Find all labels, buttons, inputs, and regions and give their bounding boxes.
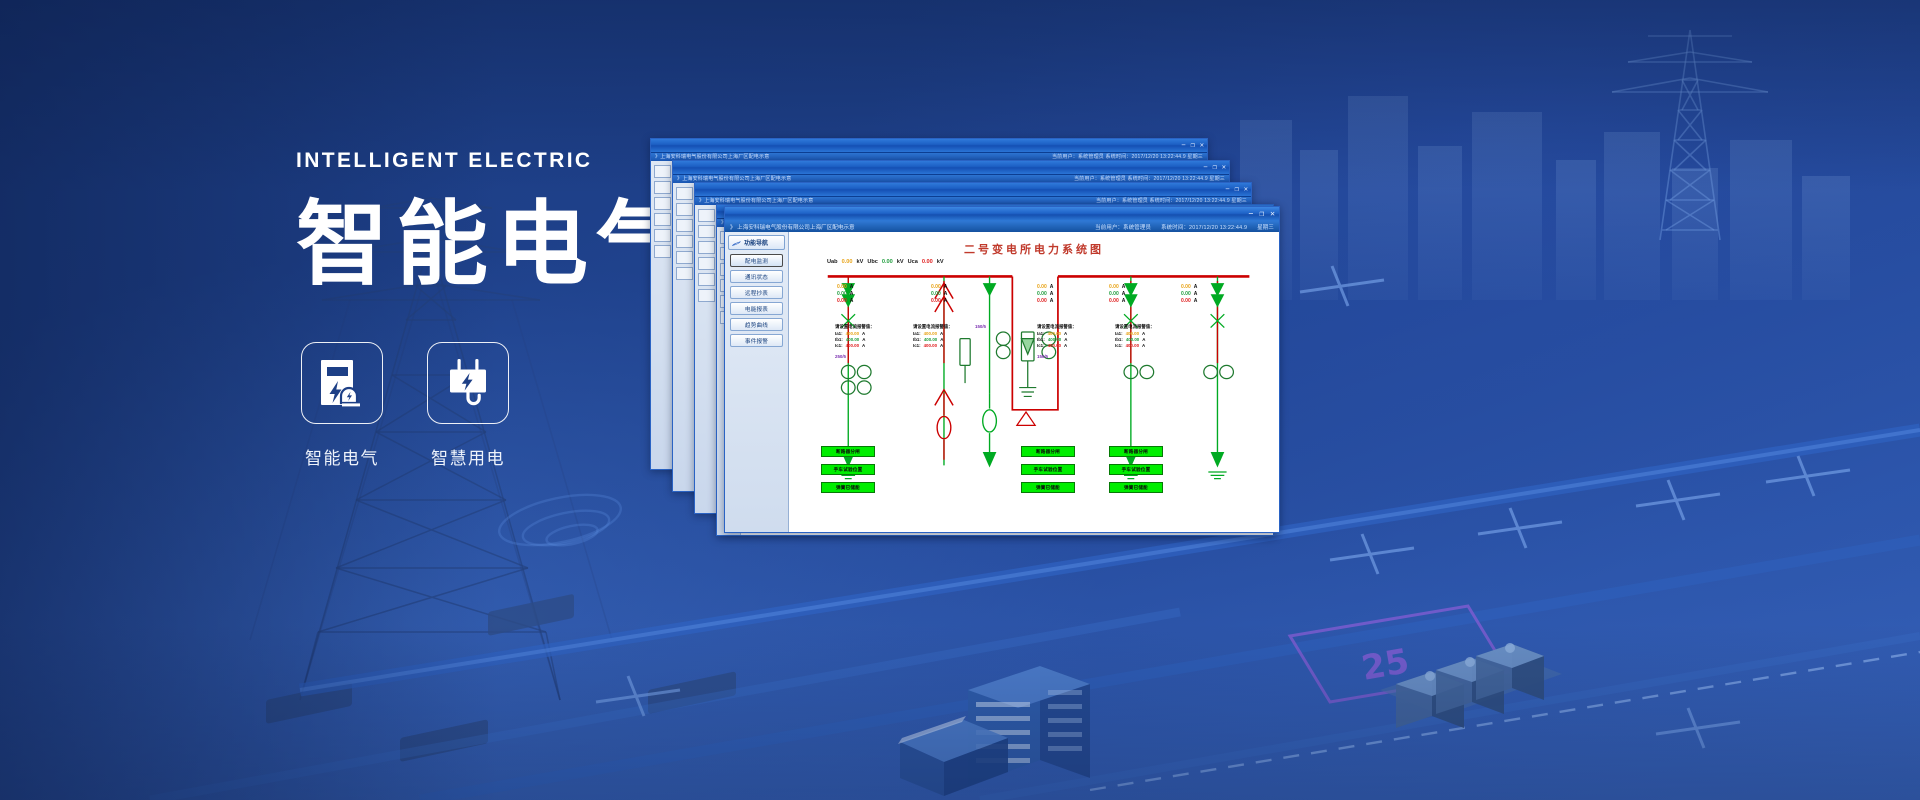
phase-a-current: 0.00 [1181,284,1191,291]
ic1-label: Ic1: [1115,343,1123,349]
nav-item-label: 通讯状态 [745,273,768,281]
power-plug-lightning-icon [444,358,492,408]
status-column-3: 断路器分闸 手车试验位置 弹簧已储能 [1109,446,1163,493]
foreground-window-substation[interactable]: − ❐ ✕ 》 上海安科瑞电气股份有限公司上海厂区配电示意 当前用户：系统管理员… [724,206,1280,533]
breadcrumb: 》 上海安科瑞电气股份有限公司上海厂区配电示意 [730,223,855,231]
nav-item-label: 电能报表 [745,305,768,313]
nav-rail-item[interactable] [676,187,693,200]
window-titlebar[interactable]: − ❐ ✕ [725,207,1279,221]
unit: A [1050,291,1054,298]
nav-rail-item[interactable] [676,267,693,280]
weekday-label: 星期三 [1257,223,1274,231]
alarm-setting-block-3: 请设置电流报警值： Ia1:400.00A Ib1:400.00A Ic1:40… [1037,324,1077,349]
phase-a-current: 0.00 [837,284,847,291]
tower-footings [266,594,736,762]
status-spring-charged[interactable]: 弹簧已储能 [821,482,875,493]
status-truck-test-pos[interactable]: 手车试验位置 [1109,464,1163,475]
status-spring-charged[interactable]: 弹簧已储能 [1109,482,1163,493]
svg-text:25: 25 [1359,641,1413,689]
maximize-button[interactable]: ❐ [1191,142,1195,149]
feature-item-smart-power[interactable]: 智慧用电 [426,342,510,469]
building-cluster [898,666,1090,796]
nav-rail-item[interactable] [654,245,671,258]
status-column-1: 断路器分闸 手车试验位置 弹簧已储能 [821,446,875,493]
feature-icon-frame [301,342,383,424]
unit: A [944,298,948,305]
nav-item-power-monitoring[interactable]: 配电监测 [730,254,783,267]
ic1-label: Ic1: [835,343,843,349]
transmission-tower-right [1612,30,1768,240]
alarm-setting-header: 请设置电流报警值： [913,324,953,330]
ic1-value: 400.00 [924,343,937,349]
close-button[interactable]: ✕ [1244,186,1248,193]
current-readout-feeder-1: 0.00A 0.00A 0.00A [837,284,853,305]
current-readout-feeder-5: 0.00A 0.00A 0.00A [1181,284,1197,305]
ct-ratio-label-3: 150/5 [1037,354,1048,359]
unit: A [850,298,854,305]
nav-rail-item[interactable] [676,219,693,232]
unit: A [850,284,854,291]
unit: A [1122,298,1126,305]
ic1-label: Ic1: [1037,343,1045,349]
nav-item-trend-curve[interactable]: 趋势曲线 [730,318,783,331]
unit: A [940,343,943,349]
feature-item-intelligent-electric[interactable]: 智能电气 [300,342,384,469]
status-truck-test-pos[interactable]: 手车试验位置 [821,464,875,475]
nav-item-label: 远程抄表 [745,289,768,297]
phase-c-current: 0.00 [1181,298,1191,305]
nav-rail-item[interactable] [654,229,671,242]
nav-item-remote-meter[interactable]: 远程抄表 [730,286,783,299]
transformer-bank [1380,643,1562,728]
unit: A [1050,284,1054,291]
status-breaker-open[interactable]: 断路器分闸 [821,446,875,457]
minimize-button[interactable]: − [1181,142,1185,149]
ct-ratio-label-2: 150/5 [975,324,986,329]
minimize-button[interactable]: − [1249,210,1254,218]
nav-rail-item[interactable] [654,213,671,226]
unit: A [944,284,948,291]
phase-b-current: 0.00 [931,291,941,298]
application-window-stack: − ❐ ✕ 》上海安科瑞电气股份有限公司上海厂区配电示意 当前用户：系统管理员 … [650,138,1290,538]
ic1-value: 400.00 [846,343,859,349]
status-column-2: 断路器分闸 手车试验位置 弹簧已储能 [1021,446,1075,493]
ic1-label: Ic1: [913,343,921,349]
nav-item-event-alarm[interactable]: 事件报警 [730,334,783,347]
minimize-button[interactable]: − [1203,164,1207,171]
system-time-label: 系统时间：2017/12/20 13:22:44.9 [1161,223,1247,231]
alarm-setting-block-4: 请设置电流报警值： Ia1:400.00A Ib1:400.00A Ic1:40… [1115,324,1155,349]
nav-rail-item[interactable] [698,241,715,254]
phase-a-current: 0.00 [1037,284,1047,291]
unit: A [1064,343,1067,349]
current-readout-feeder-4: 0.00A 0.00A 0.00A [1109,284,1125,305]
unit: A [1142,343,1145,349]
phase-b-current: 0.00 [1037,291,1047,298]
unit: A [850,291,854,298]
nav-rail-item[interactable] [698,257,715,270]
current-readout-feeder-3: 0.00A 0.00A 0.00A [1037,284,1053,305]
nav-item-label: 趋势曲线 [745,321,768,329]
unit: A [862,343,865,349]
window-content: 功能导航 配电监测 通讯状态 远程抄表 电能报表 趋势曲线 事件报警 [725,232,1279,532]
phase-b-current: 0.00 [837,291,847,298]
close-button[interactable]: ✕ [1222,164,1226,171]
ic1-value: 400.00 [1048,343,1061,349]
alarm-setting-block-2: 请设置电流报警值： Ia1:400.00A Ib1:400.00A Ic1:40… [913,324,953,349]
banner-stage: 25 [0,0,1920,800]
minimize-button[interactable]: − [1225,186,1229,193]
cable-coil [495,486,625,555]
maximize-button[interactable]: ❐ [1235,186,1239,193]
nav-header-label: 功能导航 [744,238,768,247]
function-nav-pane: 功能导航 配电监测 通讯状态 远程抄表 电能报表 趋势曲线 事件报警 [725,232,789,532]
ic1-value: 400.00 [1126,343,1139,349]
unit: A [1194,284,1198,291]
nav-item-label: 事件报警 [745,337,768,345]
window-titlebar[interactable]: − ❐ ✕ [695,183,1251,197]
nav-rail-item[interactable] [676,203,693,216]
nav-item-list: 配电监测 通讯状态 远程抄表 电能报表 趋势曲线 事件报警 [728,254,785,347]
phase-c-current: 0.00 [837,298,847,305]
ct-ratio-label-1: 250/5 [835,354,846,359]
nav-rail-item[interactable] [698,225,715,238]
nav-rail-item[interactable] [698,273,715,286]
nav-rail-item[interactable] [698,289,715,302]
nav-rail-item[interactable] [654,165,671,178]
phase-c-current: 0.00 [1037,298,1047,305]
feature-label: 智能电气 [305,444,379,469]
unit: A [1050,298,1054,305]
feature-label: 智慧用电 [431,444,505,469]
unit: A [944,291,948,298]
nav-rail-item[interactable] [698,209,715,222]
phase-b-current: 0.00 [1181,291,1191,298]
maximize-button[interactable]: ❐ [1213,164,1217,171]
nav-item-label: 配电监测 [745,257,768,265]
unit: A [1122,291,1126,298]
window-titlebar[interactable]: − ❐ ✕ [651,139,1207,153]
feature-icon-frame [427,342,509,424]
status-truck-test-pos[interactable]: 手车试验位置 [1021,464,1075,475]
phase-b-current: 0.00 [1109,291,1119,298]
unit: A [1122,284,1126,291]
phase-c-current: 0.00 [931,298,941,305]
status-breaker-open[interactable]: 断路器分闸 [1021,446,1075,457]
nav-rail-item[interactable] [676,251,693,264]
single-line-diagram: 二号变电所电力系统图 Uab 0.00 kV Ubc 0.00 kV Uca 0… [789,232,1279,532]
unit: A [1194,291,1198,298]
close-button[interactable]: ✕ [1270,210,1275,218]
status-spring-charged[interactable]: 弹簧已储能 [1021,482,1075,493]
nav-item-energy-report[interactable]: 电能报表 [730,302,783,315]
nav-rail-item[interactable] [654,181,671,194]
nav-rail-item[interactable] [676,235,693,248]
phase-a-current: 0.00 [931,284,941,291]
alarm-setting-block-1: 请设置电流报警值： Ia1:400.00A Ib1:400.00A Ic1:40… [835,324,875,349]
phase-c-current: 0.00 [1109,298,1119,305]
close-button[interactable]: ✕ [1200,142,1204,149]
alarm-setting-header: 请设置电流报警值： [1037,324,1077,330]
alarm-setting-header: 请设置电流报警值： [835,324,875,330]
feature-list: 智能电气 智慧用电 [300,342,510,469]
current-readout-feeder-2: 0.00A 0.00A 0.00A [931,284,947,305]
electric-meter-cabinet-icon [318,358,366,408]
phase-a-current: 0.00 [1109,284,1119,291]
window-titlebar[interactable]: − ❐ ✕ [673,161,1229,175]
plate-25: 25 [1290,606,1508,702]
status-breaker-open[interactable]: 断路器分闸 [1109,446,1163,457]
window-infobar: 》 上海安科瑞电气股份有限公司上海厂区配电示意 当前用户：系统管理员 系统时间：… [725,221,1279,232]
nav-item-comm-status[interactable]: 通讯状态 [730,270,783,283]
book-nav-icon [732,234,741,252]
current-user-label: 当前用户：系统管理员 [1095,223,1151,231]
maximize-button[interactable]: ❐ [1259,210,1264,218]
unit: A [1194,298,1198,305]
alarm-setting-header: 请设置电流报警值： [1115,324,1155,330]
nav-rail-item[interactable] [654,197,671,210]
nav-header: 功能导航 [728,235,785,250]
